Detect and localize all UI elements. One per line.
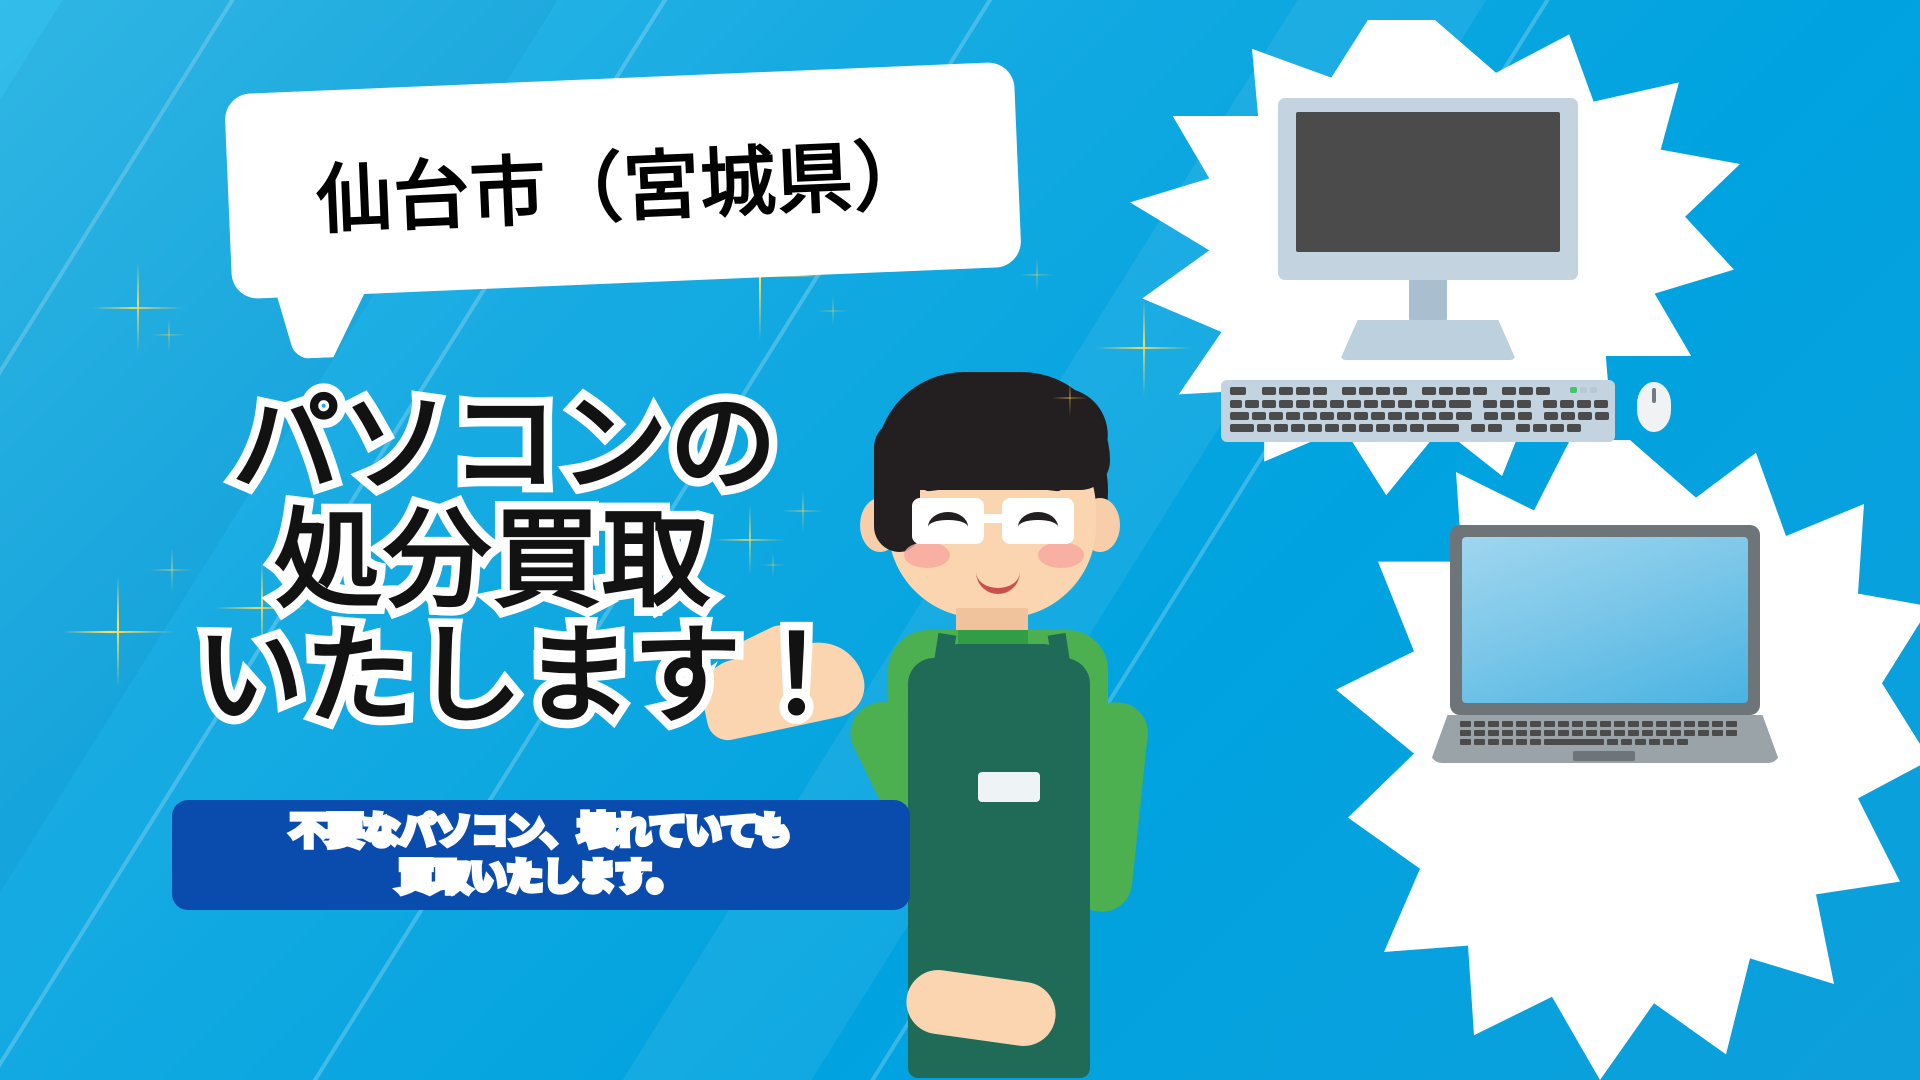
laptop-trackpad xyxy=(1573,751,1635,761)
headline-line-2: 処分買取 xyxy=(196,506,896,616)
person-glasses-bridge xyxy=(982,514,1004,523)
sparkle-2-icon xyxy=(152,318,186,352)
laptop-illustration xyxy=(1430,525,1780,715)
bg-streak-2 xyxy=(0,0,32,1080)
speech-bubble-tail xyxy=(276,290,385,359)
sparkle-3-icon xyxy=(62,576,174,688)
laptop-keyboard xyxy=(1460,721,1750,747)
headline-line-1: パソコンの xyxy=(196,390,896,500)
desktop-monitor-illustration xyxy=(1278,98,1578,280)
location-speech-bubble: 仙台市（宮城県） xyxy=(224,62,1022,300)
headline: パソコンの 処分買取 いたします！ xyxy=(196,390,896,738)
person-cheek-right xyxy=(1038,542,1084,568)
mouse-illustration xyxy=(1637,382,1671,432)
sparkle-4-icon xyxy=(150,548,194,592)
laptop-screen xyxy=(1462,537,1748,703)
person-cheek-left xyxy=(904,542,950,568)
sparkle-9-icon xyxy=(818,296,848,326)
caption-box: 不要なパソコン、壊れていても 買取いたします。 xyxy=(172,800,910,910)
person-name-badge xyxy=(978,772,1040,802)
banner-canvas: 仙台市（宮城県） パソコンの 処分買取 いたします！ 不要なパソコン、壊れていて… xyxy=(0,0,1920,1080)
caption-line-1: 不要なパソコン、壊れていても xyxy=(291,809,791,855)
person-eye-left xyxy=(928,512,968,542)
monitor-base xyxy=(1340,320,1516,360)
keyboard-illustration xyxy=(1221,380,1615,442)
headline-line-3: いたします！ xyxy=(196,622,896,732)
monitor-neck xyxy=(1409,280,1447,326)
mouse-scroll-wheel xyxy=(1652,388,1656,403)
sparkle-14-icon xyxy=(1020,258,1054,292)
bg-streak-3 xyxy=(0,0,124,1080)
person-eye-right xyxy=(1018,512,1058,542)
monitor-screen xyxy=(1296,112,1560,252)
sparkle-1-icon xyxy=(92,262,184,354)
caption-line-2: 買取いたします。 xyxy=(398,855,684,901)
person-hair-fringe xyxy=(976,380,1113,485)
speech-bubble-text: 仙台市（宮城県） xyxy=(224,62,1022,300)
